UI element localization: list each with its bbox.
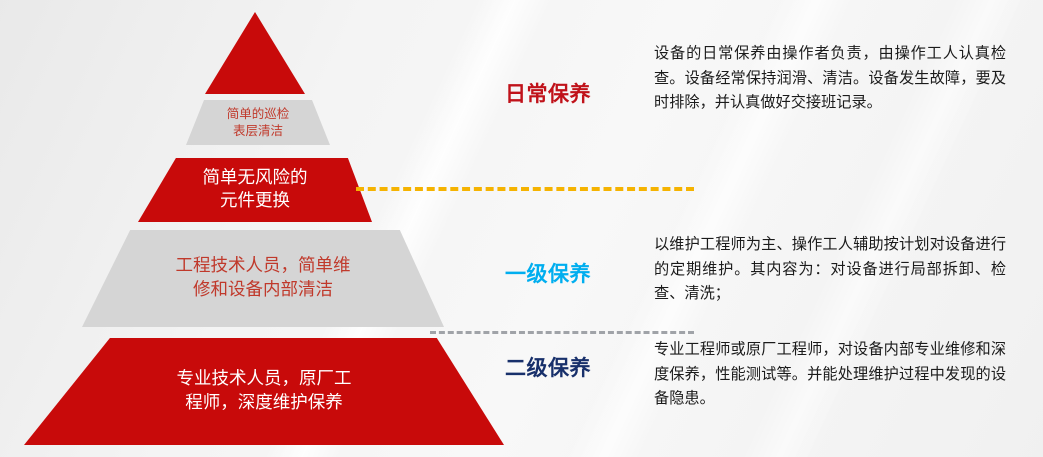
- pyramid-tier-inspection: 简单的巡检 表层清洁: [186, 100, 330, 145]
- pyramid-tier-apex: [205, 12, 305, 94]
- stage-label-level2: 二级保养: [505, 352, 591, 382]
- pyramid-diagram: 简单的巡检 表层清洁 简单无风险的 元件更换 工程技术人员，简单维 修和设备内部…: [0, 0, 1043, 457]
- stage-description-daily: 设备的日常保养由操作者负责，由操作工人认真检查。设备经常保持润滑、清洁。设备发生…: [654, 41, 1006, 115]
- pyramid-tier-inspection-label: 简单的巡检 表层清洁: [227, 106, 290, 139]
- pyramid-tier-specialist-maintenance-label: 专业技术人员，原厂工 程师，深度维护保养: [177, 368, 352, 414]
- pyramid-tier-component-replacement: 简单无风险的 元件更换: [138, 158, 372, 222]
- pyramid-tier-engineer-repair: 工程技术人员，简单维 修和设备内部清洁: [82, 230, 444, 327]
- pyramid-tier-engineer-repair-label: 工程技术人员，简单维 修和设备内部清洁: [176, 255, 351, 301]
- pyramid-tier-component-replacement-label: 简单无风险的 元件更换: [203, 167, 308, 213]
- stage-description-level1: 以维护工程师为主、操作工人辅助按计划对设备进行的定期维护。其内容为：对设备进行局…: [654, 232, 1006, 306]
- connector-dashed-daily: [356, 187, 694, 191]
- stage-description-level2: 专业工程师或原厂工程师，对设备内部专业维修和深度保养，性能测试等。并能处理维护过…: [654, 337, 1006, 411]
- connector-dashed-level1: [430, 331, 694, 334]
- stage-label-level1: 一级保养: [505, 258, 591, 288]
- stage-label-daily: 日常保养: [505, 78, 591, 108]
- pyramid-tier-specialist-maintenance: 专业技术人员，原厂工 程师，深度维护保养: [24, 338, 504, 445]
